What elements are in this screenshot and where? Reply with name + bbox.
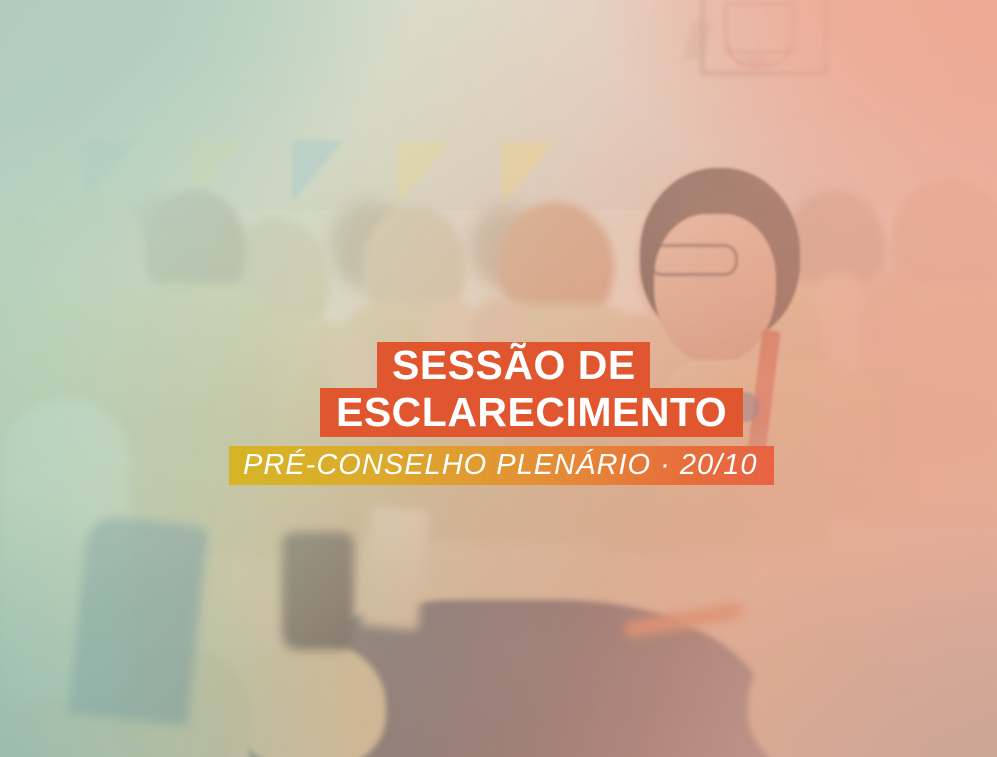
poster-subtitle-bar: PRÉ-CONSELHO PLENÁRIO · 20/10 <box>229 446 774 485</box>
poster-title-line-2: ESCLARECIMENTO <box>320 388 743 437</box>
poster-title-line-1: SESSÃO DE <box>377 342 650 388</box>
event-poster: SESSÃO DE ESCLARECIMENTO PRÉ-CONSELHO PL… <box>0 0 997 757</box>
poster-subtitle-text: PRÉ-CONSELHO PLENÁRIO · 20/10 <box>243 451 758 480</box>
